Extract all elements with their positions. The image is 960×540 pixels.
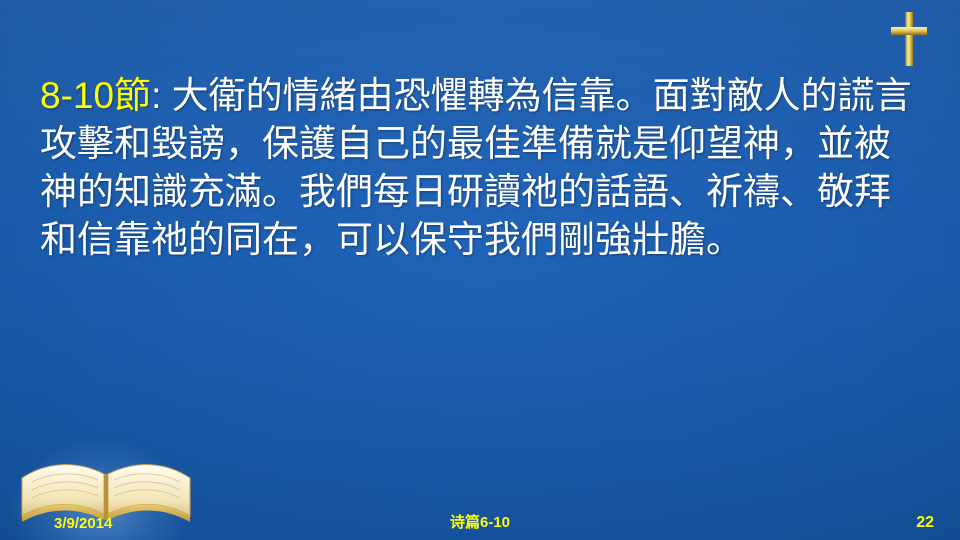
cross-icon bbox=[886, 10, 932, 68]
footer-title: 诗篇6-10 bbox=[0, 511, 960, 532]
verse-reference: 8-10節 bbox=[40, 75, 151, 116]
footer-page-number: 22 bbox=[916, 514, 934, 532]
slide: 8-10節: 大衛的情緒由恐懼轉為信靠。面對敵人的謊言攻擊和毀謗，保護自己的最佳… bbox=[0, 0, 960, 540]
verse-separator: : bbox=[151, 75, 172, 116]
body-paragraph: 大衛的情緒由恐懼轉為信靠。面對敵人的謊言攻擊和毀謗，保護自己的最佳準備就是仰望神… bbox=[40, 75, 912, 260]
slide-body-text: 8-10節: 大衛的情緒由恐懼轉為信靠。面對敵人的謊言攻擊和毀謗，保護自己的最佳… bbox=[40, 72, 924, 264]
